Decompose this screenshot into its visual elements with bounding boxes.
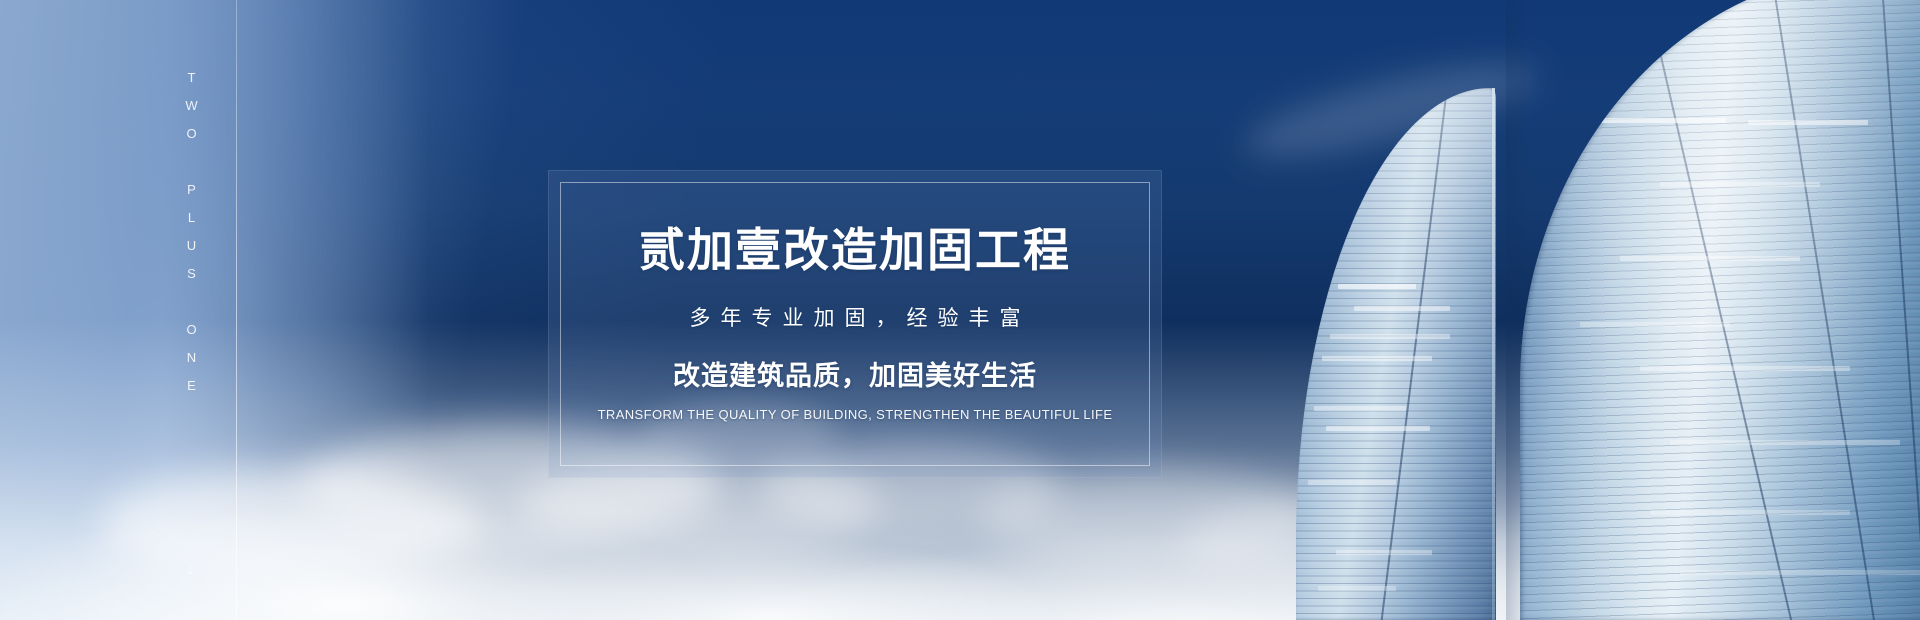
window-strip — [1330, 334, 1450, 339]
tower-mullion — [1770, 0, 1891, 620]
hero-text-panel: 贰加壹改造加固工程 多年专业加固，经验丰富 改造建筑品质，加固美好生活 TRAN… — [548, 170, 1162, 478]
window-strip — [1354, 306, 1450, 311]
tower-back — [1520, 0, 1920, 620]
vertical-divider-rule — [236, 0, 237, 620]
hero-banner: TWO PLUS ONE 1 贰加壹改造加固工程 多年专业加固，经验丰富 改造建… — [0, 0, 1920, 620]
brand-vertical-label: TWO PLUS ONE — [162, 70, 198, 406]
window-strip — [1660, 182, 1820, 187]
corner-mark: 1 — [176, 565, 196, 579]
tower-front — [1296, 88, 1496, 620]
page-subtitle: 多年专业加固，经验丰富 — [561, 276, 1149, 332]
page-slogan: 改造建筑品质，加固美好生活 — [561, 332, 1149, 393]
tower-floor-banding — [1520, 0, 1920, 620]
window-strip — [1620, 256, 1800, 261]
tower-front-edge — [1492, 88, 1495, 620]
window-strip — [1640, 366, 1850, 371]
window-strip — [1650, 510, 1850, 515]
tower-mullion — [1880, 0, 1920, 620]
window-strip — [1670, 440, 1900, 445]
panel-inner-border: 贰加壹改造加固工程 多年专业加固，经验丰富 改造建筑品质，加固美好生活 TRAN… — [560, 182, 1150, 466]
panel-content: 贰加壹改造加固工程 多年专业加固，经验丰富 改造建筑品质，加固美好生活 TRAN… — [561, 183, 1149, 422]
window-strip — [1586, 118, 1726, 123]
window-strip — [1580, 322, 1730, 327]
tower-mullion — [1370, 88, 1448, 620]
window-strip — [1308, 480, 1396, 485]
window-strip — [1748, 120, 1868, 125]
tower-mullion — [1640, 0, 1813, 620]
window-strip — [1314, 406, 1406, 411]
window-strip — [1318, 586, 1396, 591]
window-strip — [1338, 284, 1416, 289]
window-strip — [1680, 570, 1920, 575]
window-strip — [1322, 356, 1432, 361]
tower-floor-banding — [1296, 88, 1496, 620]
window-strip — [1336, 550, 1432, 555]
skyscraper-illustration — [1220, 0, 1920, 620]
page-title: 贰加壹改造加固工程 — [561, 183, 1149, 276]
page-english-tagline: TRANSFORM THE QUALITY OF BUILDING, STREN… — [561, 393, 1149, 422]
window-strip — [1326, 426, 1430, 431]
